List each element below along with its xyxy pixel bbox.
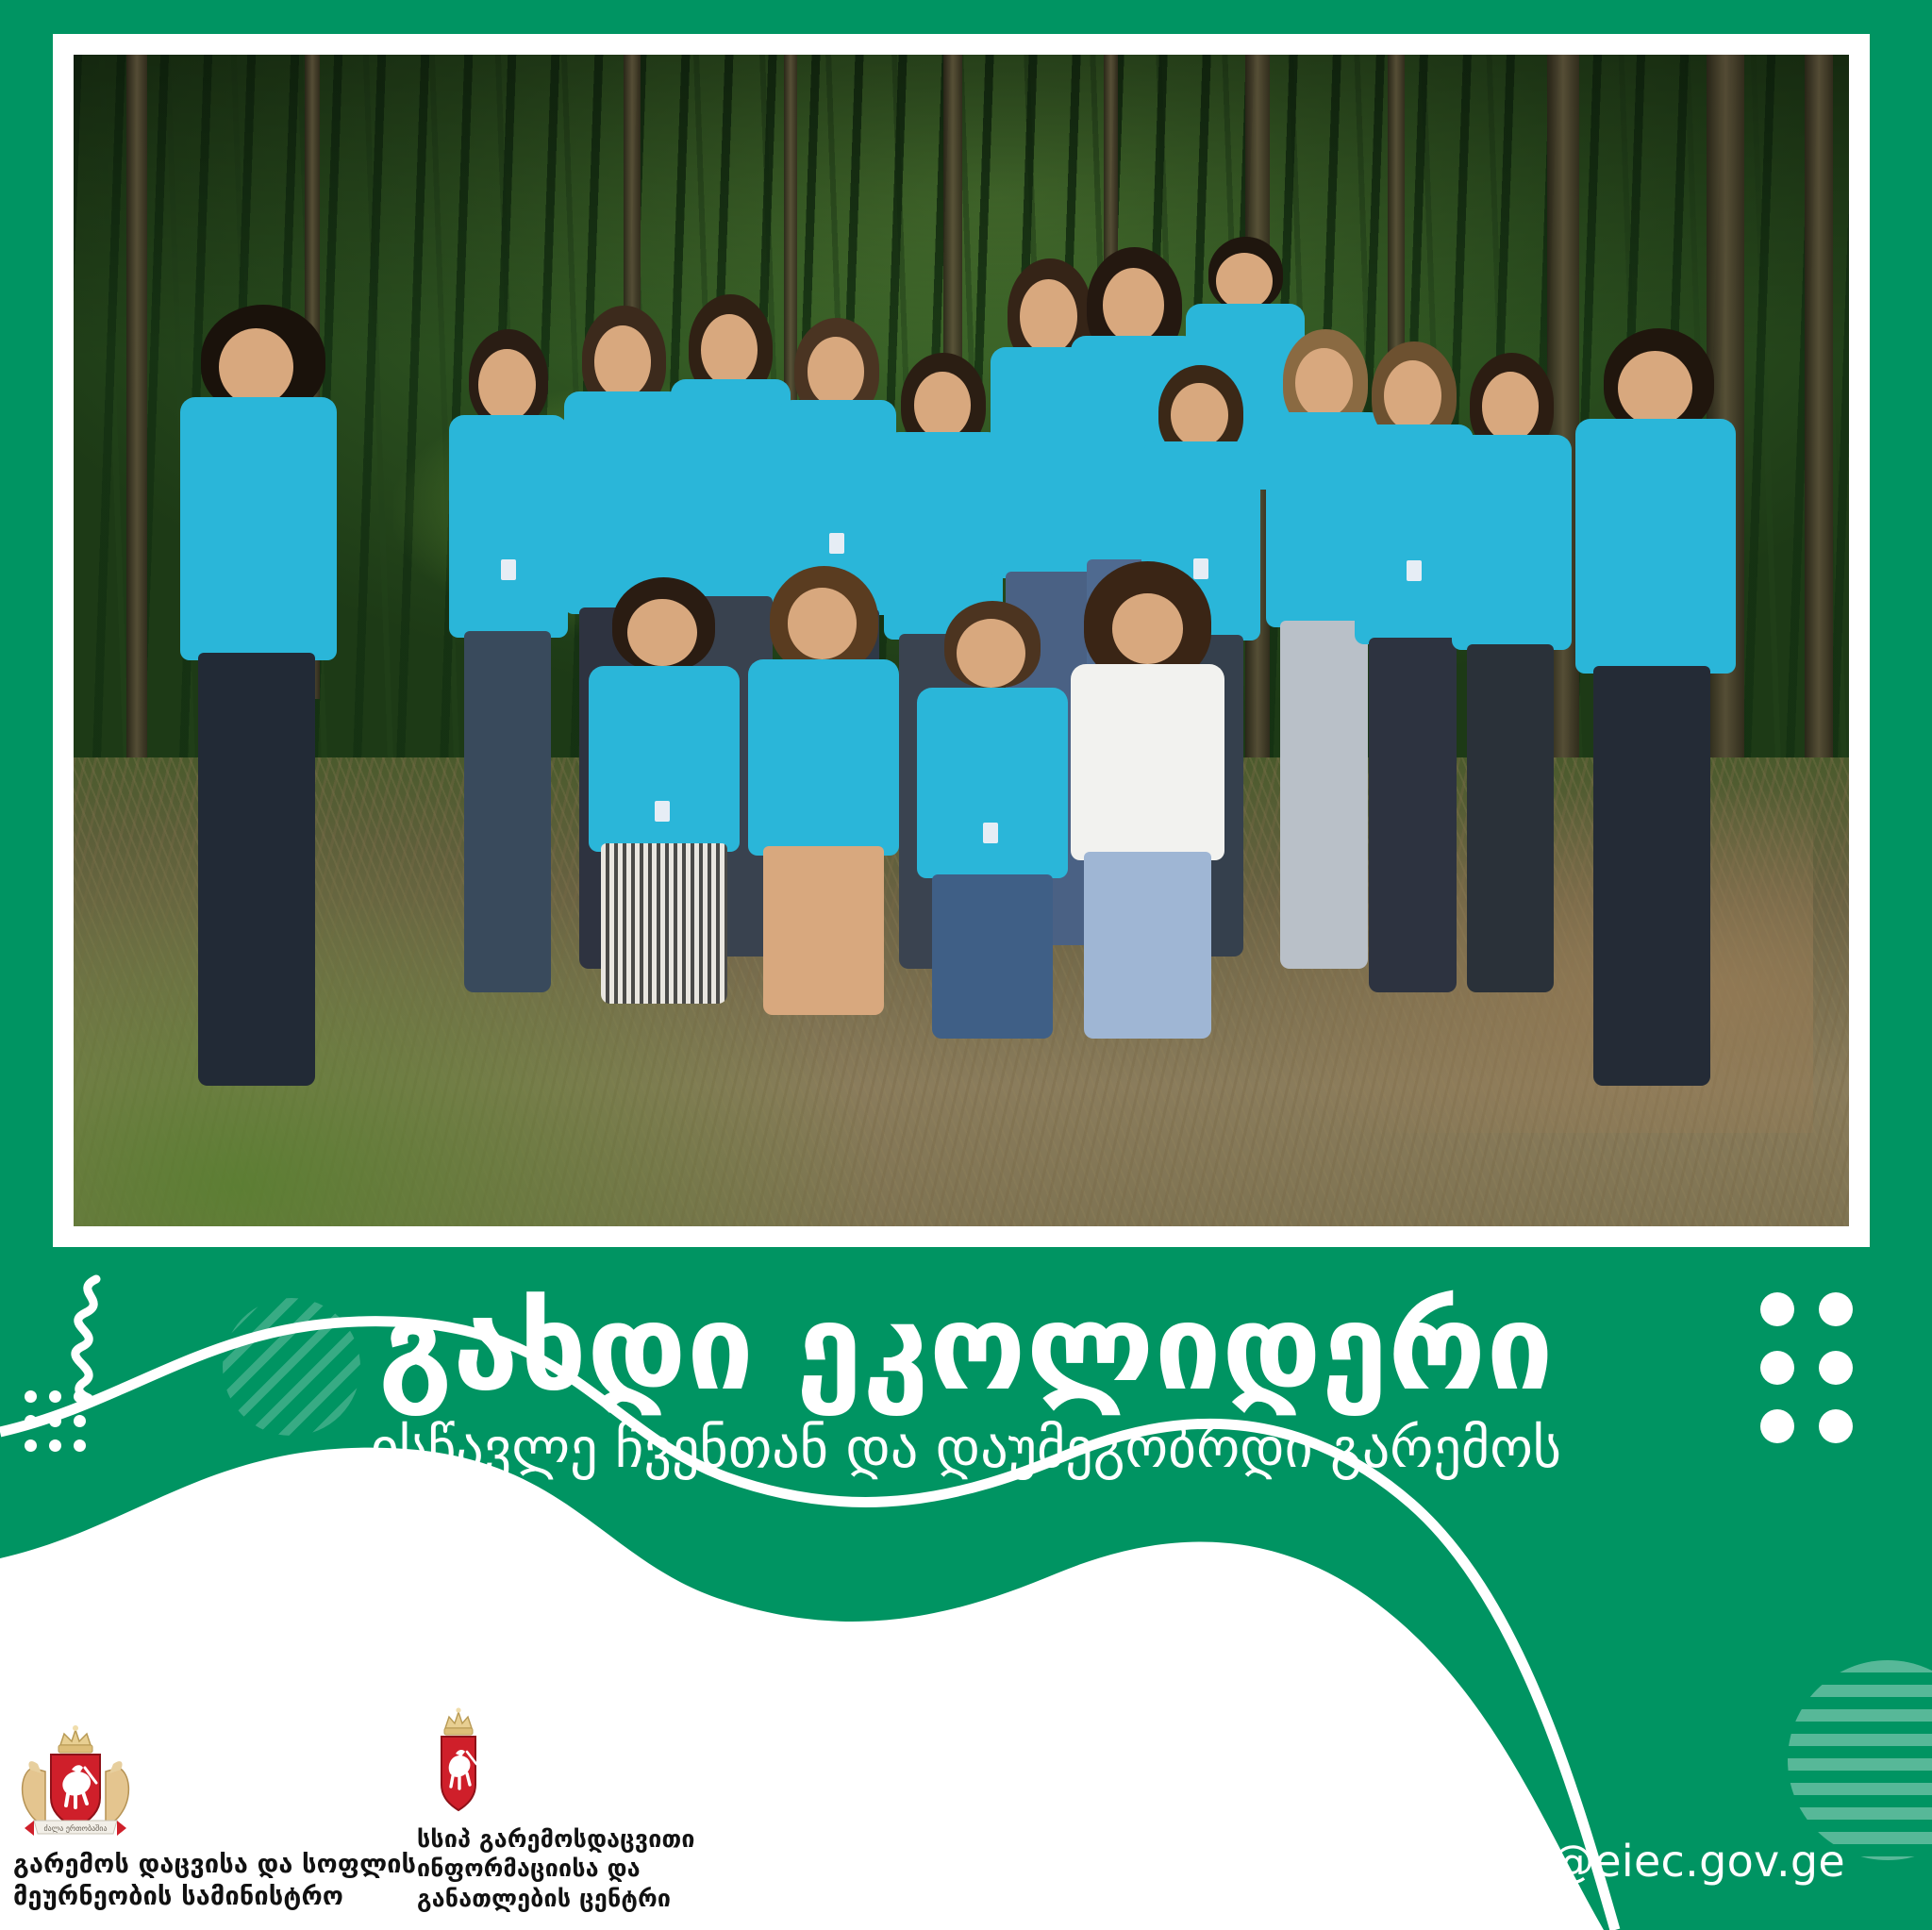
- person: [1450, 359, 1574, 992]
- person-crouching: [917, 606, 1068, 1040]
- photo-frame: [53, 34, 1870, 1247]
- person-crouching: [1068, 570, 1227, 1039]
- person-crouching: [589, 582, 740, 1004]
- georgia-shield-icon: [423, 1707, 494, 1821]
- tree-trunk: [1805, 55, 1833, 852]
- georgia-coat-of-arms-icon: ძალა ერთობაშია: [13, 1724, 138, 1845]
- logo-ministry-label: გარემოს დაცვისა და სოფლის მეურნეობის სამ…: [13, 1849, 457, 1913]
- logo-ministry: ძალა ერთობაშია გარემოს დაცვისა და სოფლის…: [13, 1724, 457, 1913]
- logo-center: სსიპ გარემოსდაცვითი ინფორმაციისა და განა…: [417, 1707, 738, 1914]
- tree-trunk: [126, 55, 147, 781]
- person-front-right: [1565, 336, 1742, 1086]
- person-front-left: [180, 312, 358, 1086]
- group-photo: [74, 55, 1849, 1226]
- person: [446, 336, 571, 992]
- contact-info[interactable]: www.eiec.gov.ge | info@eiec.gov.ge: [1058, 1836, 1845, 1887]
- page-subtitle: ისწავლე ჩვენთან და დაუმეგობრდი გარემოს: [0, 1419, 1932, 1479]
- footer: ძალა ერთობაშია გარემოს დაცვისა და სოფლის…: [0, 1647, 1932, 1930]
- page-title: გახდი ეკოლიდერი: [0, 1285, 1932, 1411]
- svg-text:ძალა ერთობაშია: ძალა ერთობაშია: [43, 1823, 107, 1833]
- person-crouching: [748, 570, 899, 1015]
- logo-center-label: სსიპ გარემოსდაცვითი ინფორმაციისა და განა…: [417, 1824, 738, 1914]
